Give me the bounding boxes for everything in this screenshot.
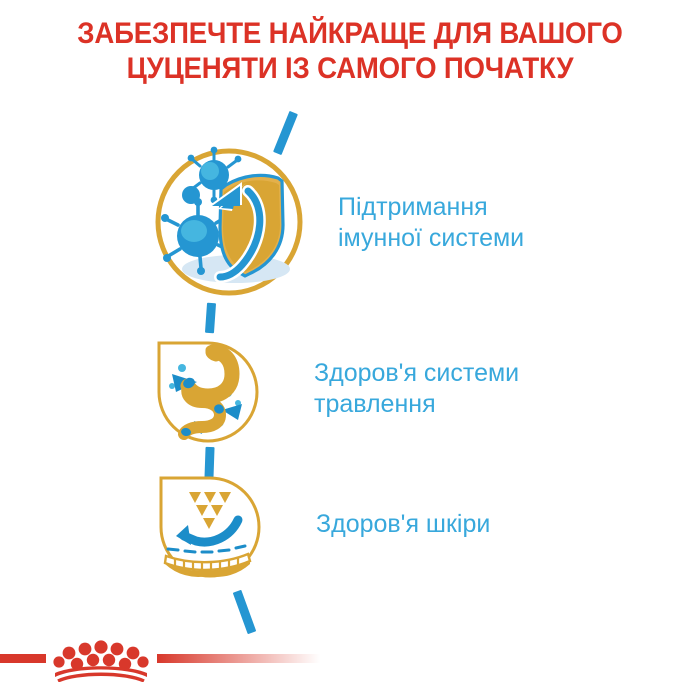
benefit-row-skin-health: Здоров'я шкіри [152,465,490,583]
promo-banner: ЗАБЕЗПЕЧТЕ НАЙКРАЩЕ ДЛЯ ВАШОГО ЦУЦЕНЯТИ … [0,0,700,700]
benefit-label-immune-support: Підтримання імунної системи [338,192,524,254]
royal-canin-crown-logo [0,636,320,682]
benefit-label-digestive-health: Здоров'я системи травлення [314,358,519,420]
connector-dash-bottom [233,590,257,634]
stomach-intestine-icon [150,330,262,448]
benefit-row-immune-support: Підтримання імунної системи [150,145,524,300]
connector-dash-middle-1 [205,303,216,334]
shield-virus-icon [150,145,308,300]
benefit-label-skin-health: Здоров'я шкіри [316,509,490,540]
benefit-row-digestive-health: Здоров'я системи травлення [150,330,519,448]
skin-coat-icon [152,465,264,583]
page-title: ЗАБЕЗПЕЧТЕ НАЙКРАЩЕ ДЛЯ ВАШОГО ЦУЦЕНЯТИ … [28,16,672,86]
